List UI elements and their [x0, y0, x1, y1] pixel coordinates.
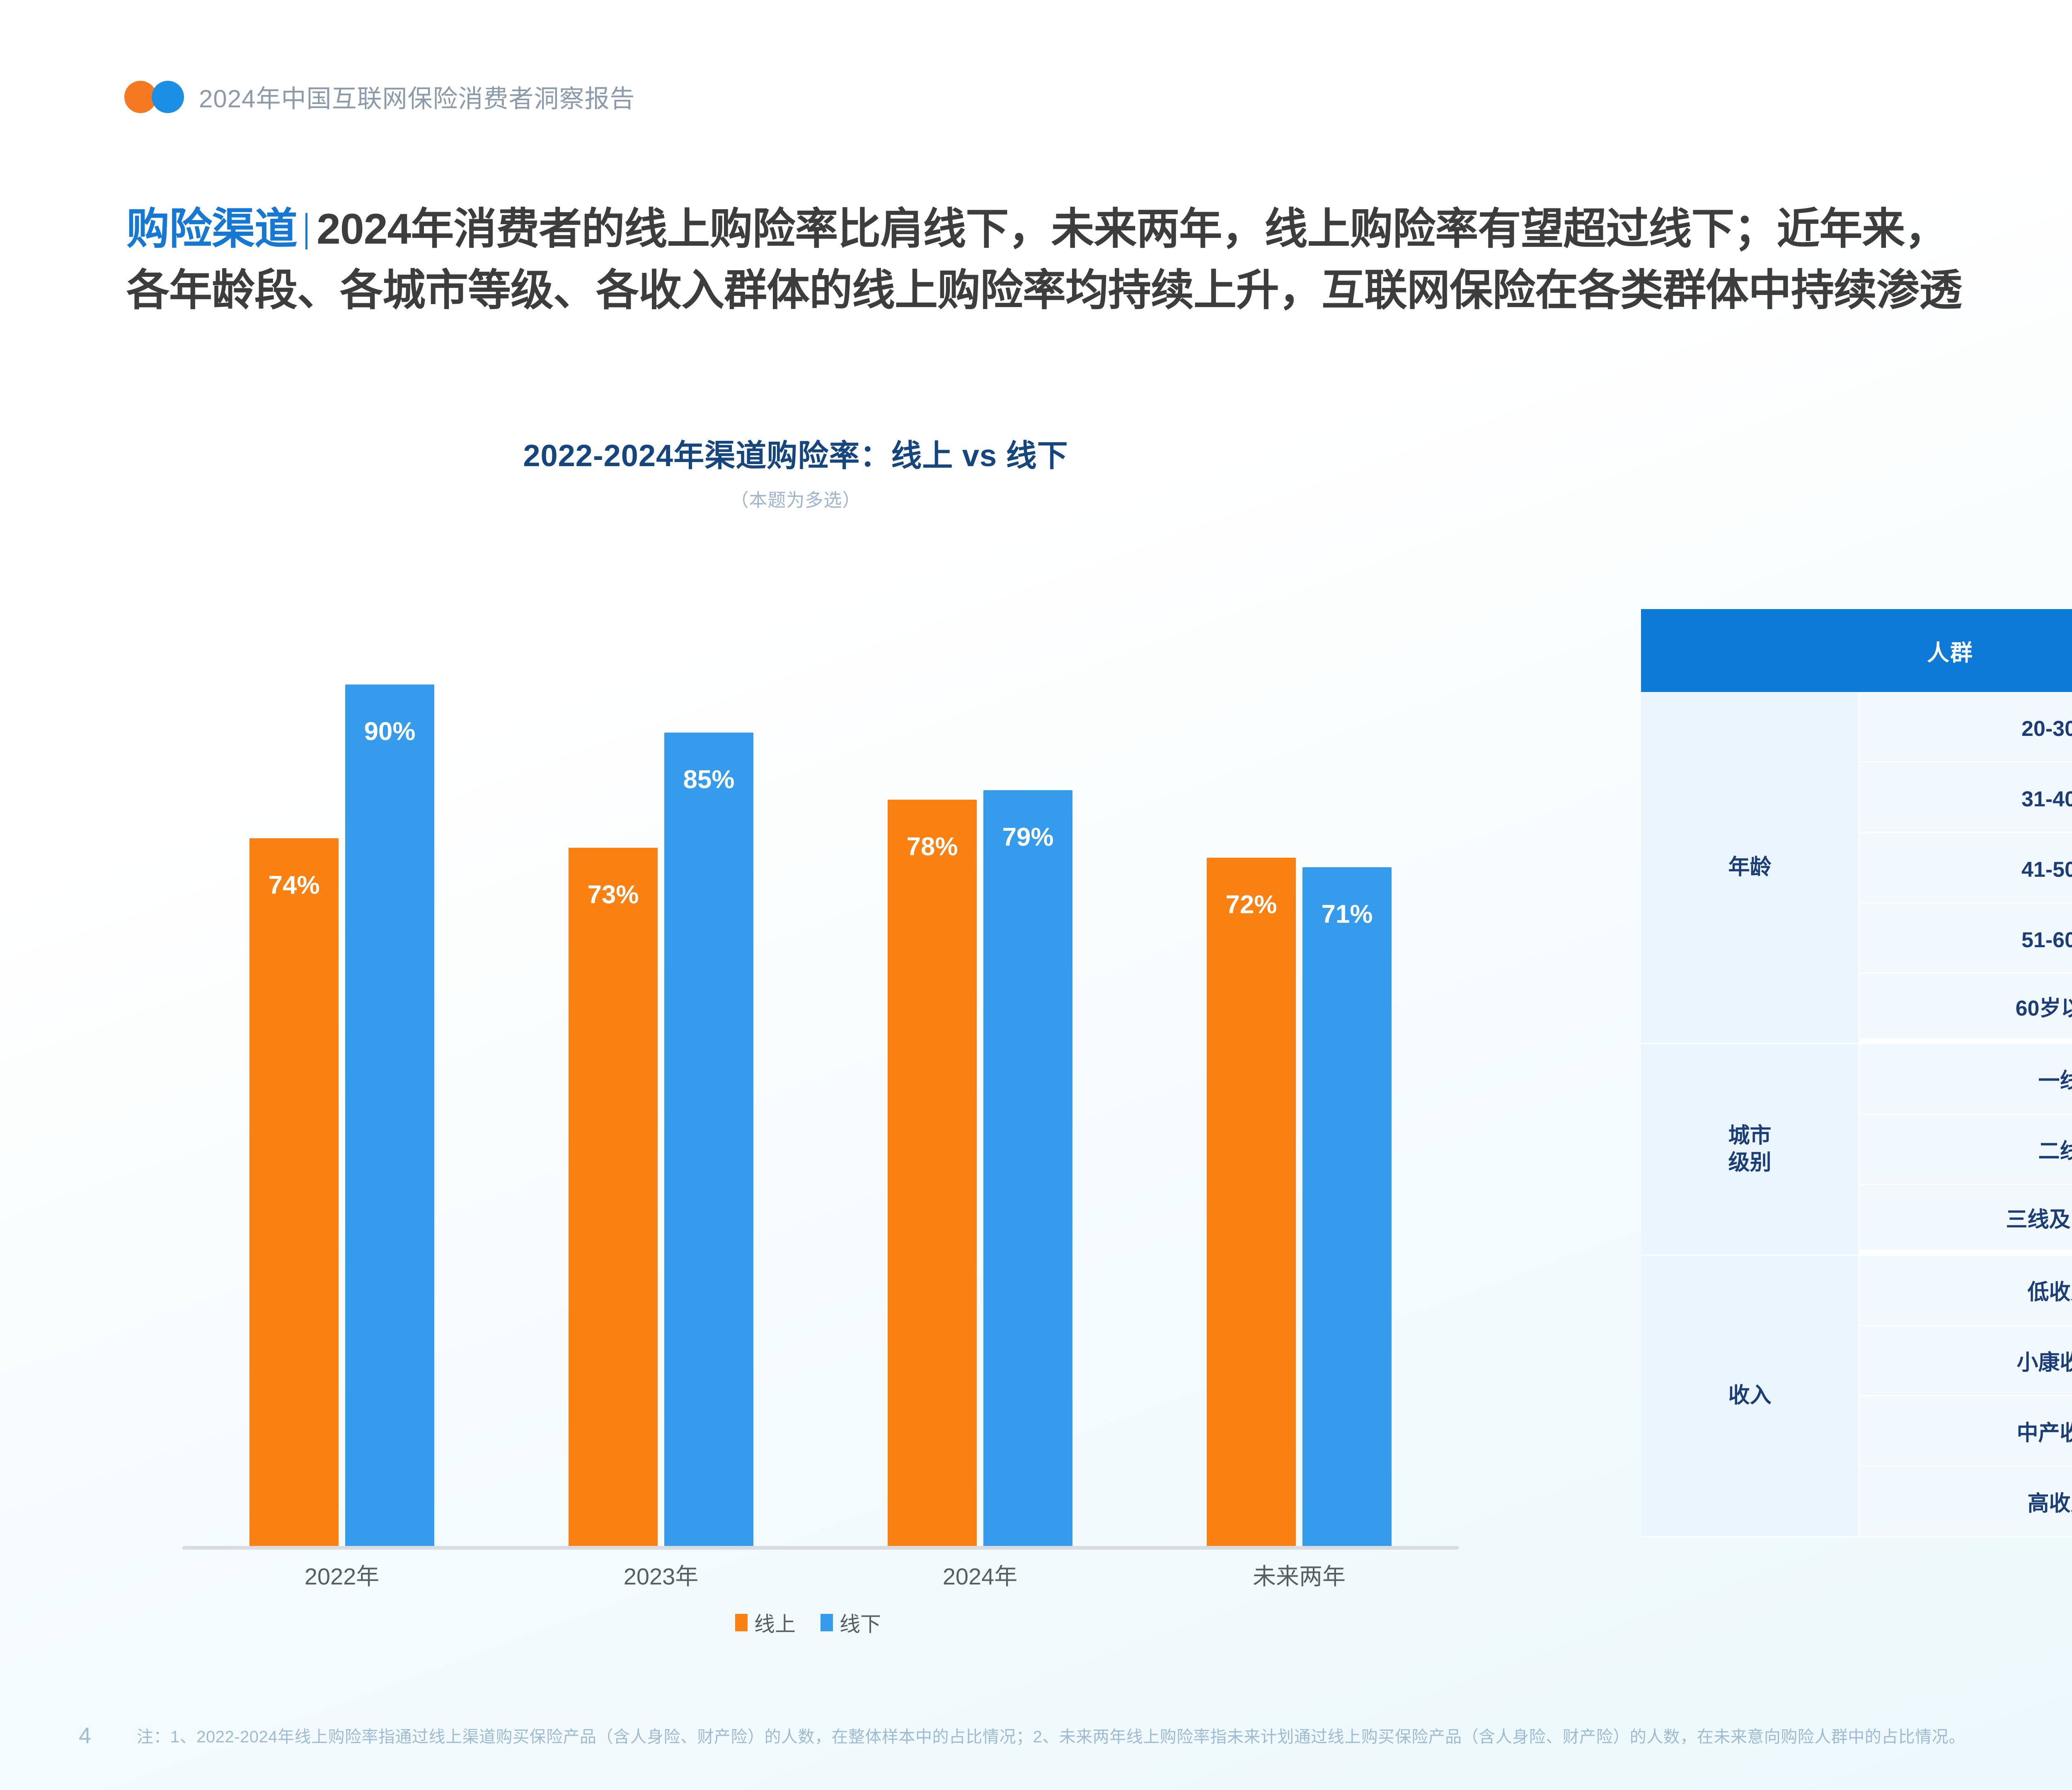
table-row-label: 低收入 — [1860, 1255, 2072, 1326]
bar-online: 72% — [1207, 858, 1296, 1550]
legend-item[interactable]: 线上 — [735, 1608, 796, 1638]
page-title-line-2: 各年龄段、各城市等级、各收入群体的线上购险率均持续上升，互联网保险在各类群体中持… — [126, 260, 2072, 322]
bar-value-label: 72% — [1207, 890, 1296, 919]
bar-value-label: 71% — [1302, 900, 1392, 929]
bar-group: 78%79% — [821, 588, 1140, 1550]
bar-pair: 72%71% — [1140, 588, 1459, 1550]
bar-online: 73% — [569, 848, 658, 1550]
report-title: 2024年中国互联网保险消费者洞察报告 — [199, 79, 635, 115]
bar-pair: 73%85% — [501, 588, 821, 1550]
table-row-label: 20-30岁 — [1860, 692, 2072, 762]
x-axis-tick-label: 2022年 — [182, 1558, 501, 1595]
table-row-label: 高收入 — [1860, 1467, 2072, 1537]
bar-value-label: 73% — [569, 880, 658, 910]
bar-pair: 78%79% — [821, 588, 1140, 1550]
chart-x-axis-line — [182, 1546, 1459, 1550]
table-header-row: 人群 2022年 2023年 2024年 — [1641, 609, 2072, 692]
header-brand-left: 2024年中国互联网保险消费者洞察报告 — [124, 79, 635, 115]
page-number: 4 — [79, 1723, 91, 1749]
page-title-line-1: 购险渠道2024年消费者的线上购险率比肩线下，未来两年，线上购险率有望超过线下；… — [126, 199, 2072, 260]
channel-purchase-bar-chart: 74%90%73%85%78%79%72%71% 2022年2023年2024年… — [104, 588, 1513, 1604]
bar-pair: 74%90% — [182, 588, 501, 1550]
left-chart-title: 2022-2024年渠道购险率：线上 vs 线下 — [0, 431, 1591, 475]
x-axis-tick-label: 2023年 — [501, 1558, 821, 1595]
bar-group-container: 74%90%73%85%78%79%72%71% — [182, 588, 1459, 1550]
title-divider — [305, 213, 307, 249]
left-chart-subtitle: （本题为多选） — [0, 485, 1591, 512]
bar-value-label: 78% — [888, 832, 977, 861]
page-header: 2024年中国互联网保险消费者洞察报告 清华大学五道口金融学院 中国保险与养老金… — [0, 0, 2072, 166]
left-chart-heading: 2022-2024年渠道购险率：线上 vs 线下 （本题为多选） — [0, 431, 1591, 512]
population-online-rate-table: 人群 2022年 2023年 2024年 年龄20-30岁74%77%84%31… — [1641, 609, 2072, 1537]
page-title-tag: 购险渠道 — [126, 205, 297, 253]
chart-plot-area: 74%90%73%85%78%79%72%71% — [182, 588, 1459, 1550]
bar-offline: 85% — [664, 733, 753, 1550]
table-row-label: 41-50岁 — [1860, 833, 2072, 903]
chart-x-axis-labels: 2022年2023年2024年未来两年 — [182, 1558, 1459, 1595]
x-axis-tick-label: 2024年 — [821, 1558, 1140, 1595]
table-header-population: 人群 — [1641, 609, 2072, 692]
table-group-label: 年龄 — [1641, 692, 1860, 1044]
bar-value-label: 79% — [983, 822, 1072, 852]
bar-offline: 79% — [983, 790, 1072, 1550]
legend-swatch-icon — [735, 1614, 748, 1631]
bar-offline: 90% — [345, 685, 434, 1550]
chart-legend: 线上线下 — [104, 1608, 1513, 1638]
legend-label: 线下 — [840, 1608, 881, 1638]
table-body: 年龄20-30岁74%77%84%31-40岁78%78%83%41-50岁73… — [1641, 692, 2072, 1537]
page-title: 购险渠道2024年消费者的线上购险率比肩线下，未来两年，线上购险率有望超过线下；… — [126, 199, 2072, 321]
table-row: 年龄20-30岁74%77%84% — [1641, 692, 2072, 762]
table-row-label: 中产收入 — [1860, 1396, 2072, 1467]
right-table-heading: 2022-2024年不同人群线上购险率 （本题为多选） — [1591, 431, 2072, 512]
bar-online: 74% — [249, 838, 339, 1550]
table-row: 城市级别一线80%76%89% — [1641, 1044, 2072, 1115]
page-title-text-1: 2024年消费者的线上购险率比肩线下，未来两年，线上购险率有望超过线下；近年来， — [317, 205, 1947, 253]
footnote: 注：1、2022-2024年线上购险率指通过线上渠道购买保险产品（含人身险、财产… — [137, 1723, 2072, 1751]
table-head: 人群 2022年 2023年 2024年 — [1641, 609, 2072, 692]
table-row: 收入低收入44%57%71% — [1641, 1255, 2072, 1326]
right-table-title: 2022-2024年不同人群线上购险率 — [1591, 431, 2072, 475]
bar-group: 74%90% — [182, 588, 501, 1550]
x-axis-tick-label: 未来两年 — [1140, 1558, 1459, 1595]
table-row-label: 三线及以下 — [1860, 1185, 2072, 1255]
table-group-label: 收入 — [1641, 1255, 1860, 1537]
population-online-rate-table-wrap: 人群 2022年 2023年 2024年 年龄20-30岁74%77%84%31… — [1641, 609, 2072, 1537]
table-row-label: 二线 — [1860, 1115, 2072, 1185]
legend-swatch-icon — [821, 1614, 833, 1631]
legend-label: 线上 — [754, 1608, 796, 1638]
right-table-subtitle: （本题为多选） — [1591, 485, 2072, 512]
legend-item[interactable]: 线下 — [821, 1608, 881, 1638]
bar-value-label: 85% — [664, 765, 753, 794]
bar-group: 72%71% — [1140, 588, 1459, 1550]
table-row-label: 一线 — [1860, 1044, 2072, 1115]
bar-value-label: 90% — [345, 717, 434, 746]
table-row-label: 51-60岁 — [1860, 903, 2072, 974]
dot-blue-icon — [152, 81, 184, 113]
bar-value-label: 74% — [249, 871, 339, 900]
bar-group: 73%85% — [501, 588, 821, 1550]
table-group-label: 城市级别 — [1641, 1044, 1860, 1255]
table-row-label: 60岁以上 — [1860, 974, 2072, 1044]
bar-online: 78% — [888, 800, 977, 1550]
table-row-label: 小康收入 — [1860, 1326, 2072, 1396]
bar-offline: 71% — [1302, 867, 1392, 1550]
logo-dots-icon — [124, 81, 186, 113]
table-row-label: 31-40岁 — [1860, 762, 2072, 833]
